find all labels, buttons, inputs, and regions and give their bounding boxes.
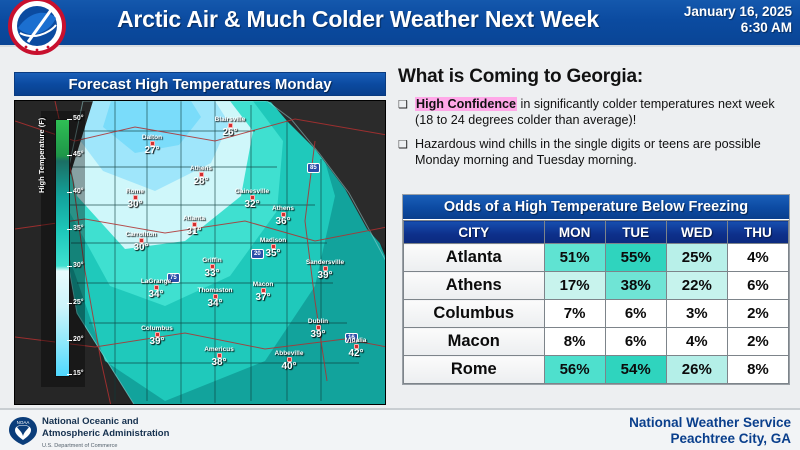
table-cell-thu: 8%: [727, 356, 788, 384]
table-cell-thu: 6%: [727, 272, 788, 300]
table-cell-city: Atlanta: [404, 244, 545, 272]
noaa-line3: U.S. Department of Commerce: [42, 441, 169, 450]
content-panel: What is Coming to Georgia: ❑High Confide…: [398, 66, 790, 177]
interstate-shield-85: 85: [307, 163, 320, 173]
table-cell-tue: 55%: [605, 244, 666, 272]
table-cell-tue: 6%: [605, 328, 666, 356]
header-date: January 16, 2025: [684, 4, 792, 20]
table-cell-thu: 2%: [727, 328, 788, 356]
map-graphic: [15, 101, 386, 405]
bullet-item: ❑High Confidence in significantly colder…: [398, 97, 790, 128]
table-cell-thu: 4%: [727, 244, 788, 272]
col-header-tue: TUE: [605, 221, 666, 244]
colorbar-tick-40: 40°: [73, 188, 84, 195]
colorbar-tick-25: 25°: [73, 299, 84, 306]
office-credit: National Weather Service Peachtree City,…: [629, 415, 791, 447]
highlighted-phrase: High Confidence: [415, 97, 517, 111]
table-cell-mon: 7%: [544, 300, 605, 328]
noaa-line2: Atmospheric Administration: [42, 428, 169, 440]
table-row: Columbus7%6%3%2%: [404, 300, 789, 328]
table-cell-city: Columbus: [404, 300, 545, 328]
table-cell-wed: 4%: [666, 328, 727, 356]
content-heading: What is Coming to Georgia:: [398, 66, 790, 88]
nws-roundel-icon: [6, 0, 68, 55]
odds-table: CITY MON TUE WED THU Atlanta51%55%25%4%A…: [403, 220, 789, 384]
table-cell-wed: 3%: [666, 300, 727, 328]
colorbar-axis-label: High Temperature (F): [37, 118, 46, 193]
table-cell-wed: 26%: [666, 356, 727, 384]
map-title: Forecast High Temperatures Monday: [14, 72, 386, 96]
interstate-shield-20: 20: [251, 249, 264, 259]
interstate-shield-16: 16: [345, 333, 358, 343]
bullet-text: Hazardous wind chills in the single digi…: [415, 137, 790, 168]
colorbar-tick-35: 35°: [73, 225, 84, 232]
table-cell-city: Rome: [404, 356, 545, 384]
bullet-text: High Confidence in significantly colder …: [415, 97, 790, 128]
forecast-map[interactable]: 50° 45° 40° 35° 30° 25° 20° 15° High Tem…: [14, 100, 386, 405]
table-cell-tue: 38%: [605, 272, 666, 300]
table-row: Rome56%54%26%8%: [404, 356, 789, 384]
forecast-map-panel: Forecast High Temperatures Monday: [14, 72, 386, 408]
office-line1: National Weather Service: [629, 415, 791, 431]
table-row: Athens17%38%22%6%: [404, 272, 789, 300]
col-header-thu: THU: [727, 221, 788, 244]
bullet-marker-icon: ❑: [398, 137, 415, 168]
table-row: Macon8%6%4%2%: [404, 328, 789, 356]
table-cell-wed: 25%: [666, 244, 727, 272]
table-cell-tue: 54%: [605, 356, 666, 384]
svg-text:NOAA: NOAA: [17, 420, 30, 425]
colorbar-gradient: [55, 119, 70, 377]
col-header-city: CITY: [404, 221, 545, 244]
table-cell-mon: 17%: [544, 272, 605, 300]
footer-bar: NOAA National Oceanic and Atmospheric Ad…: [0, 408, 800, 450]
weather-briefing-slide: Arctic Air & Much Colder Weather Next We…: [0, 0, 800, 450]
interstate-shield-75: 75: [167, 273, 180, 283]
bullet-list: ❑High Confidence in significantly colder…: [398, 97, 790, 168]
office-line2: Peachtree City, GA: [629, 431, 791, 447]
header-bar: Arctic Air & Much Colder Weather Next We…: [0, 0, 800, 47]
colorbar-tick-30: 30°: [73, 262, 84, 269]
table-cell-mon: 51%: [544, 244, 605, 272]
table-cell-mon: 56%: [544, 356, 605, 384]
noaa-line1: National Oceanic and: [42, 416, 169, 428]
colorbar-tick-50: 50°: [73, 115, 84, 122]
col-header-mon: MON: [544, 221, 605, 244]
table-cell-tue: 6%: [605, 300, 666, 328]
table-cell-city: Athens: [404, 272, 545, 300]
noaa-agency-text: National Oceanic and Atmospheric Adminis…: [42, 416, 169, 450]
colorbar-tick-15: 15°: [73, 370, 84, 377]
table-cell-mon: 8%: [544, 328, 605, 356]
table-header-row: CITY MON TUE WED THU: [404, 221, 789, 244]
header-time: 6:30 AM: [684, 20, 792, 36]
table-body: Atlanta51%55%25%4%Athens17%38%22%6%Colum…: [404, 244, 789, 384]
table-cell-thu: 2%: [727, 300, 788, 328]
bullet-item: ❑Hazardous wind chills in the single dig…: [398, 137, 790, 168]
noaa-seal-icon: NOAA: [8, 416, 38, 446]
odds-table-panel: Odds of a High Temperature Below Freezin…: [402, 194, 790, 385]
table-row: Atlanta51%55%25%4%: [404, 244, 789, 272]
table-cell-wed: 22%: [666, 272, 727, 300]
table-cell-city: Macon: [404, 328, 545, 356]
page-title: Arctic Air & Much Colder Weather Next We…: [78, 6, 638, 33]
odds-table-title: Odds of a High Temperature Below Freezin…: [403, 195, 789, 220]
colorbar-tick-45: 45°: [73, 151, 84, 158]
bullet-marker-icon: ❑: [398, 97, 415, 128]
header-datetime: January 16, 2025 6:30 AM: [684, 4, 792, 36]
col-header-wed: WED: [666, 221, 727, 244]
colorbar-tick-20: 20°: [73, 336, 84, 343]
map-colorbar: 50° 45° 40° 35° 30° 25° 20° 15°: [55, 119, 70, 377]
